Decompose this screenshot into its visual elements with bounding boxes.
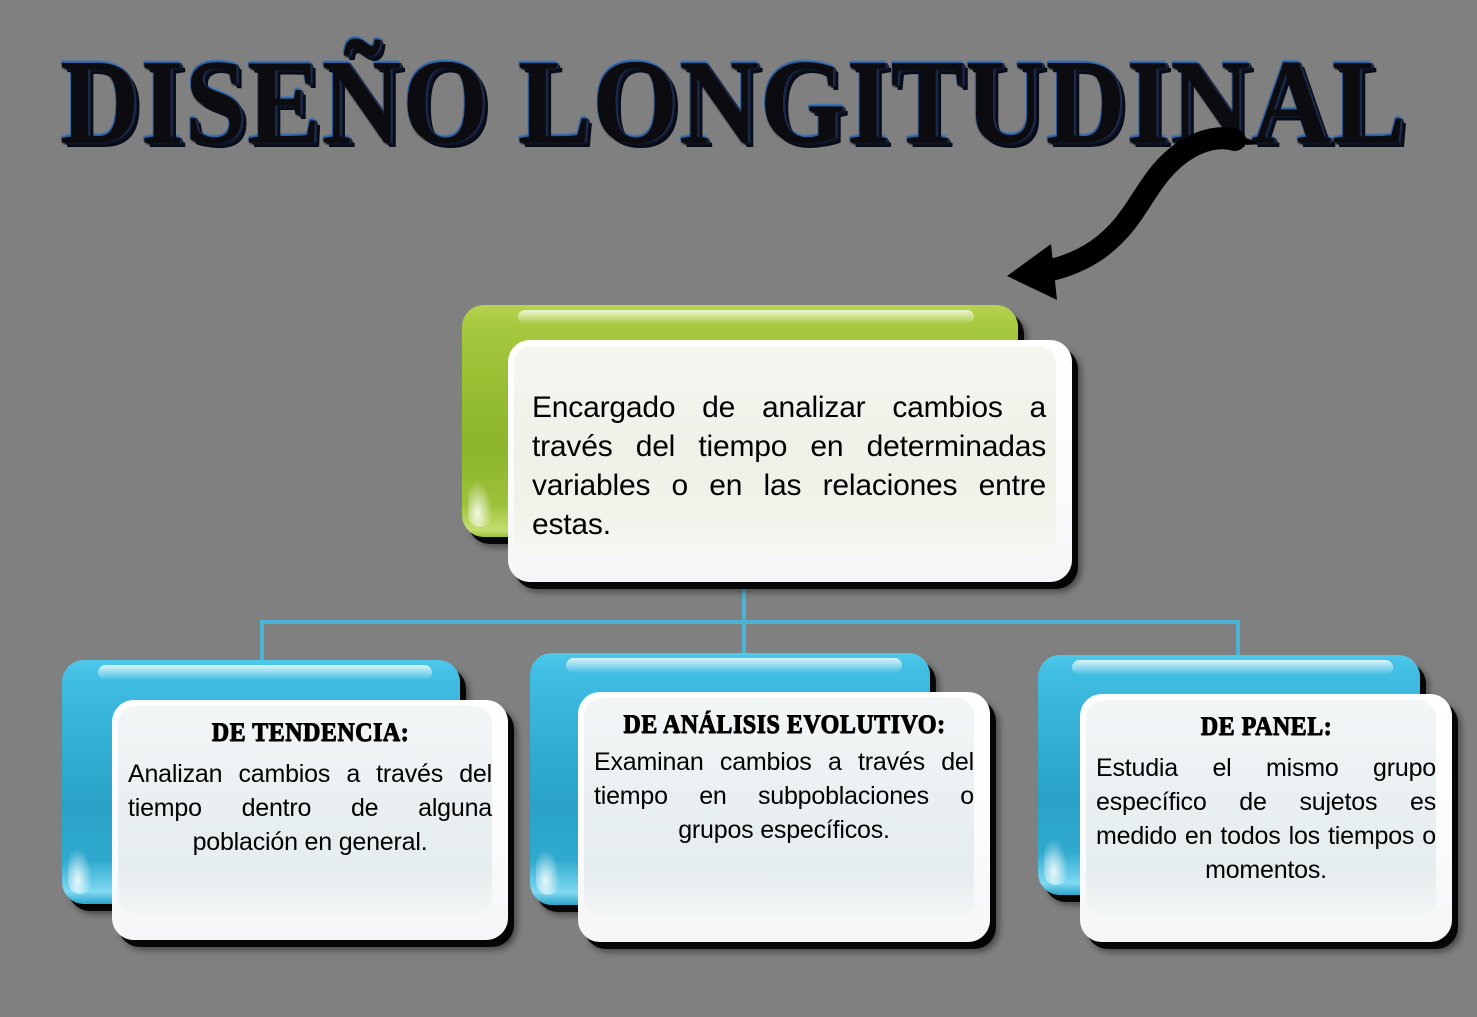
child-node-3-heading: DE PANEL:: [1080, 694, 1452, 746]
child-node-3-body: DE PANEL: Estudia el mismo grupo específ…: [1080, 694, 1452, 887]
highlight-glow: [68, 848, 92, 894]
connector-horizontal-bus: [260, 620, 1240, 624]
child-node-3-heading-text: DE PANEL:: [1200, 713, 1331, 742]
child-node-2-text: Examinan cambios a través del tiempo en …: [578, 739, 990, 847]
child-node-2-heading: DE ANÁLISIS EVOLUTIVO:: [578, 692, 990, 744]
child-node-2-heading-text: DE ANÁLISIS EVOLUTIVO: [623, 711, 937, 740]
root-node-card[interactable]: Encargado de analizar cambios a través d…: [508, 340, 1072, 582]
curved-arrow-icon: [985, 110, 1275, 315]
highlight-glow: [1044, 839, 1068, 885]
highlight-glow: [536, 849, 560, 895]
child-node-1-body: DE TENDENCIA: Analizan cambios a través …: [112, 700, 508, 859]
child-node-3-text: Estudia el mismo grupo específico de suj…: [1080, 741, 1452, 887]
child-node-2-body: DE ANÁLISIS EVOLUTIVO: Examinan cambios …: [578, 692, 990, 847]
diagram-canvas: DISEÑO LONGITUDINAL Encargado de analiza…: [0, 0, 1477, 1017]
child-node-2-heading-tail: :: [937, 711, 946, 740]
child-node-1-heading-text: DE TENDENCIA:: [211, 719, 408, 748]
child-node-3-card[interactable]: DE PANEL: Estudia el mismo grupo específ…: [1080, 694, 1452, 942]
child-node-2-card[interactable]: DE ANÁLISIS EVOLUTIVO: Examinan cambios …: [578, 692, 990, 942]
root-node-text: Encargado de analizar cambios a través d…: [508, 340, 1072, 544]
highlight-glow: [468, 481, 492, 527]
child-node-1-heading: DE TENDENCIA:: [112, 700, 508, 752]
child-node-1-text: Analizan cambios a través del tiempo den…: [112, 747, 508, 859]
child-node-1-card[interactable]: DE TENDENCIA: Analizan cambios a través …: [112, 700, 508, 940]
